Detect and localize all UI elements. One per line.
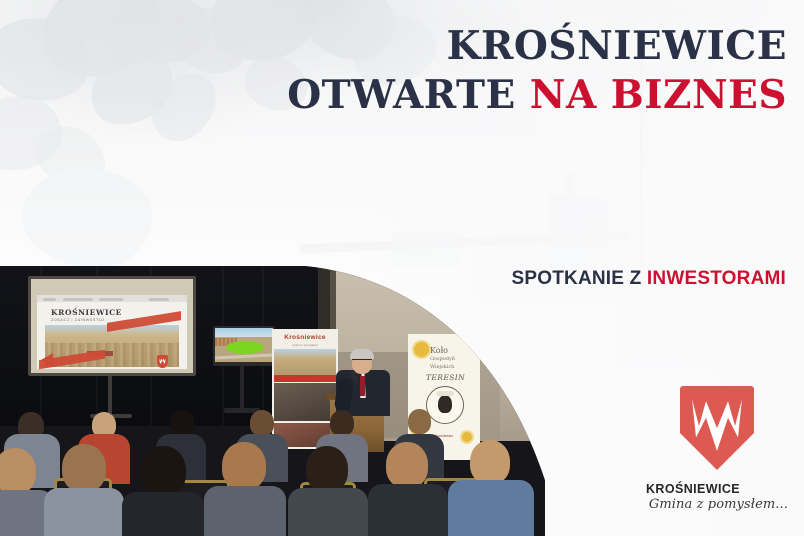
projection-screen: KROŚNIEWICE ZOBACZ | ZAINWESTUJ <box>31 279 193 373</box>
banner-left-subtitle: gmina z pomysłem <box>272 343 338 347</box>
sunflower-icon <box>414 342 429 357</box>
logo-tagline: Gmina z pomysłem... <box>646 497 788 512</box>
audience-body <box>122 492 204 536</box>
audience-head <box>470 440 510 484</box>
banner-right-line-2: Gospodyń <box>430 356 455 362</box>
audience-head <box>0 448 36 494</box>
audience-head <box>222 442 266 490</box>
audience-body <box>368 484 448 536</box>
headline-line-2-plain: OTWARTE <box>287 72 530 118</box>
page-subtitle: SPOTKANIE Z INWESTORAMI <box>266 268 786 290</box>
speaker-glasses <box>352 359 372 364</box>
banner-left-title: Krośniewice <box>272 334 338 341</box>
audience-body <box>448 480 534 536</box>
audience-body <box>204 486 286 536</box>
audience-head <box>170 410 194 436</box>
headline-line-2-accent: NA BIZNES <box>530 72 787 118</box>
banner-right-line-3: Wiejskich <box>430 364 454 370</box>
slide-title: KROŚNIEWICE <box>51 308 122 317</box>
municipality-logo: KROŚNIEWICE Gmina z pomysłem... <box>646 386 788 518</box>
audience-head <box>306 446 348 492</box>
banner-right-line-1: Koło <box>430 346 448 355</box>
audience-head <box>140 446 186 496</box>
slide-coat-of-arms-icon <box>157 355 168 368</box>
audience-head <box>330 410 354 436</box>
audience-head <box>62 444 106 492</box>
logo-name: KROŚNIEWICE <box>646 482 788 496</box>
audience-body <box>288 488 368 536</box>
headline-line-1: KROŚNIEWICE <box>147 22 787 71</box>
poster-canvas: KROŚNIEWICE OTWARTE NA BIZNES SPOTKANIE … <box>0 0 804 536</box>
coat-of-arms-charge-icon <box>692 399 742 451</box>
audience-head <box>408 409 431 434</box>
page-title: KROŚNIEWICE OTWARTE NA BIZNES <box>147 22 787 120</box>
subtitle-accent: INWESTORAMI <box>647 268 786 289</box>
audience-body <box>44 488 124 536</box>
audience-head <box>386 442 428 488</box>
slide-browser-window: KROŚNIEWICE ZOBACZ | ZAINWESTUJ <box>37 295 187 369</box>
audience-head <box>250 410 274 436</box>
slide-subtitle: ZOBACZ | ZAINWESTUJ <box>51 318 105 322</box>
monitor-screen <box>215 328 273 362</box>
headline-line-2: OTWARTE NA BIZNES <box>147 71 787 120</box>
audience <box>0 386 545 536</box>
subtitle-plain: SPOTKANIE Z <box>512 268 647 289</box>
coat-of-arms-shield-icon <box>680 386 754 470</box>
banner-right-line-4: TERESIN <box>426 373 465 382</box>
